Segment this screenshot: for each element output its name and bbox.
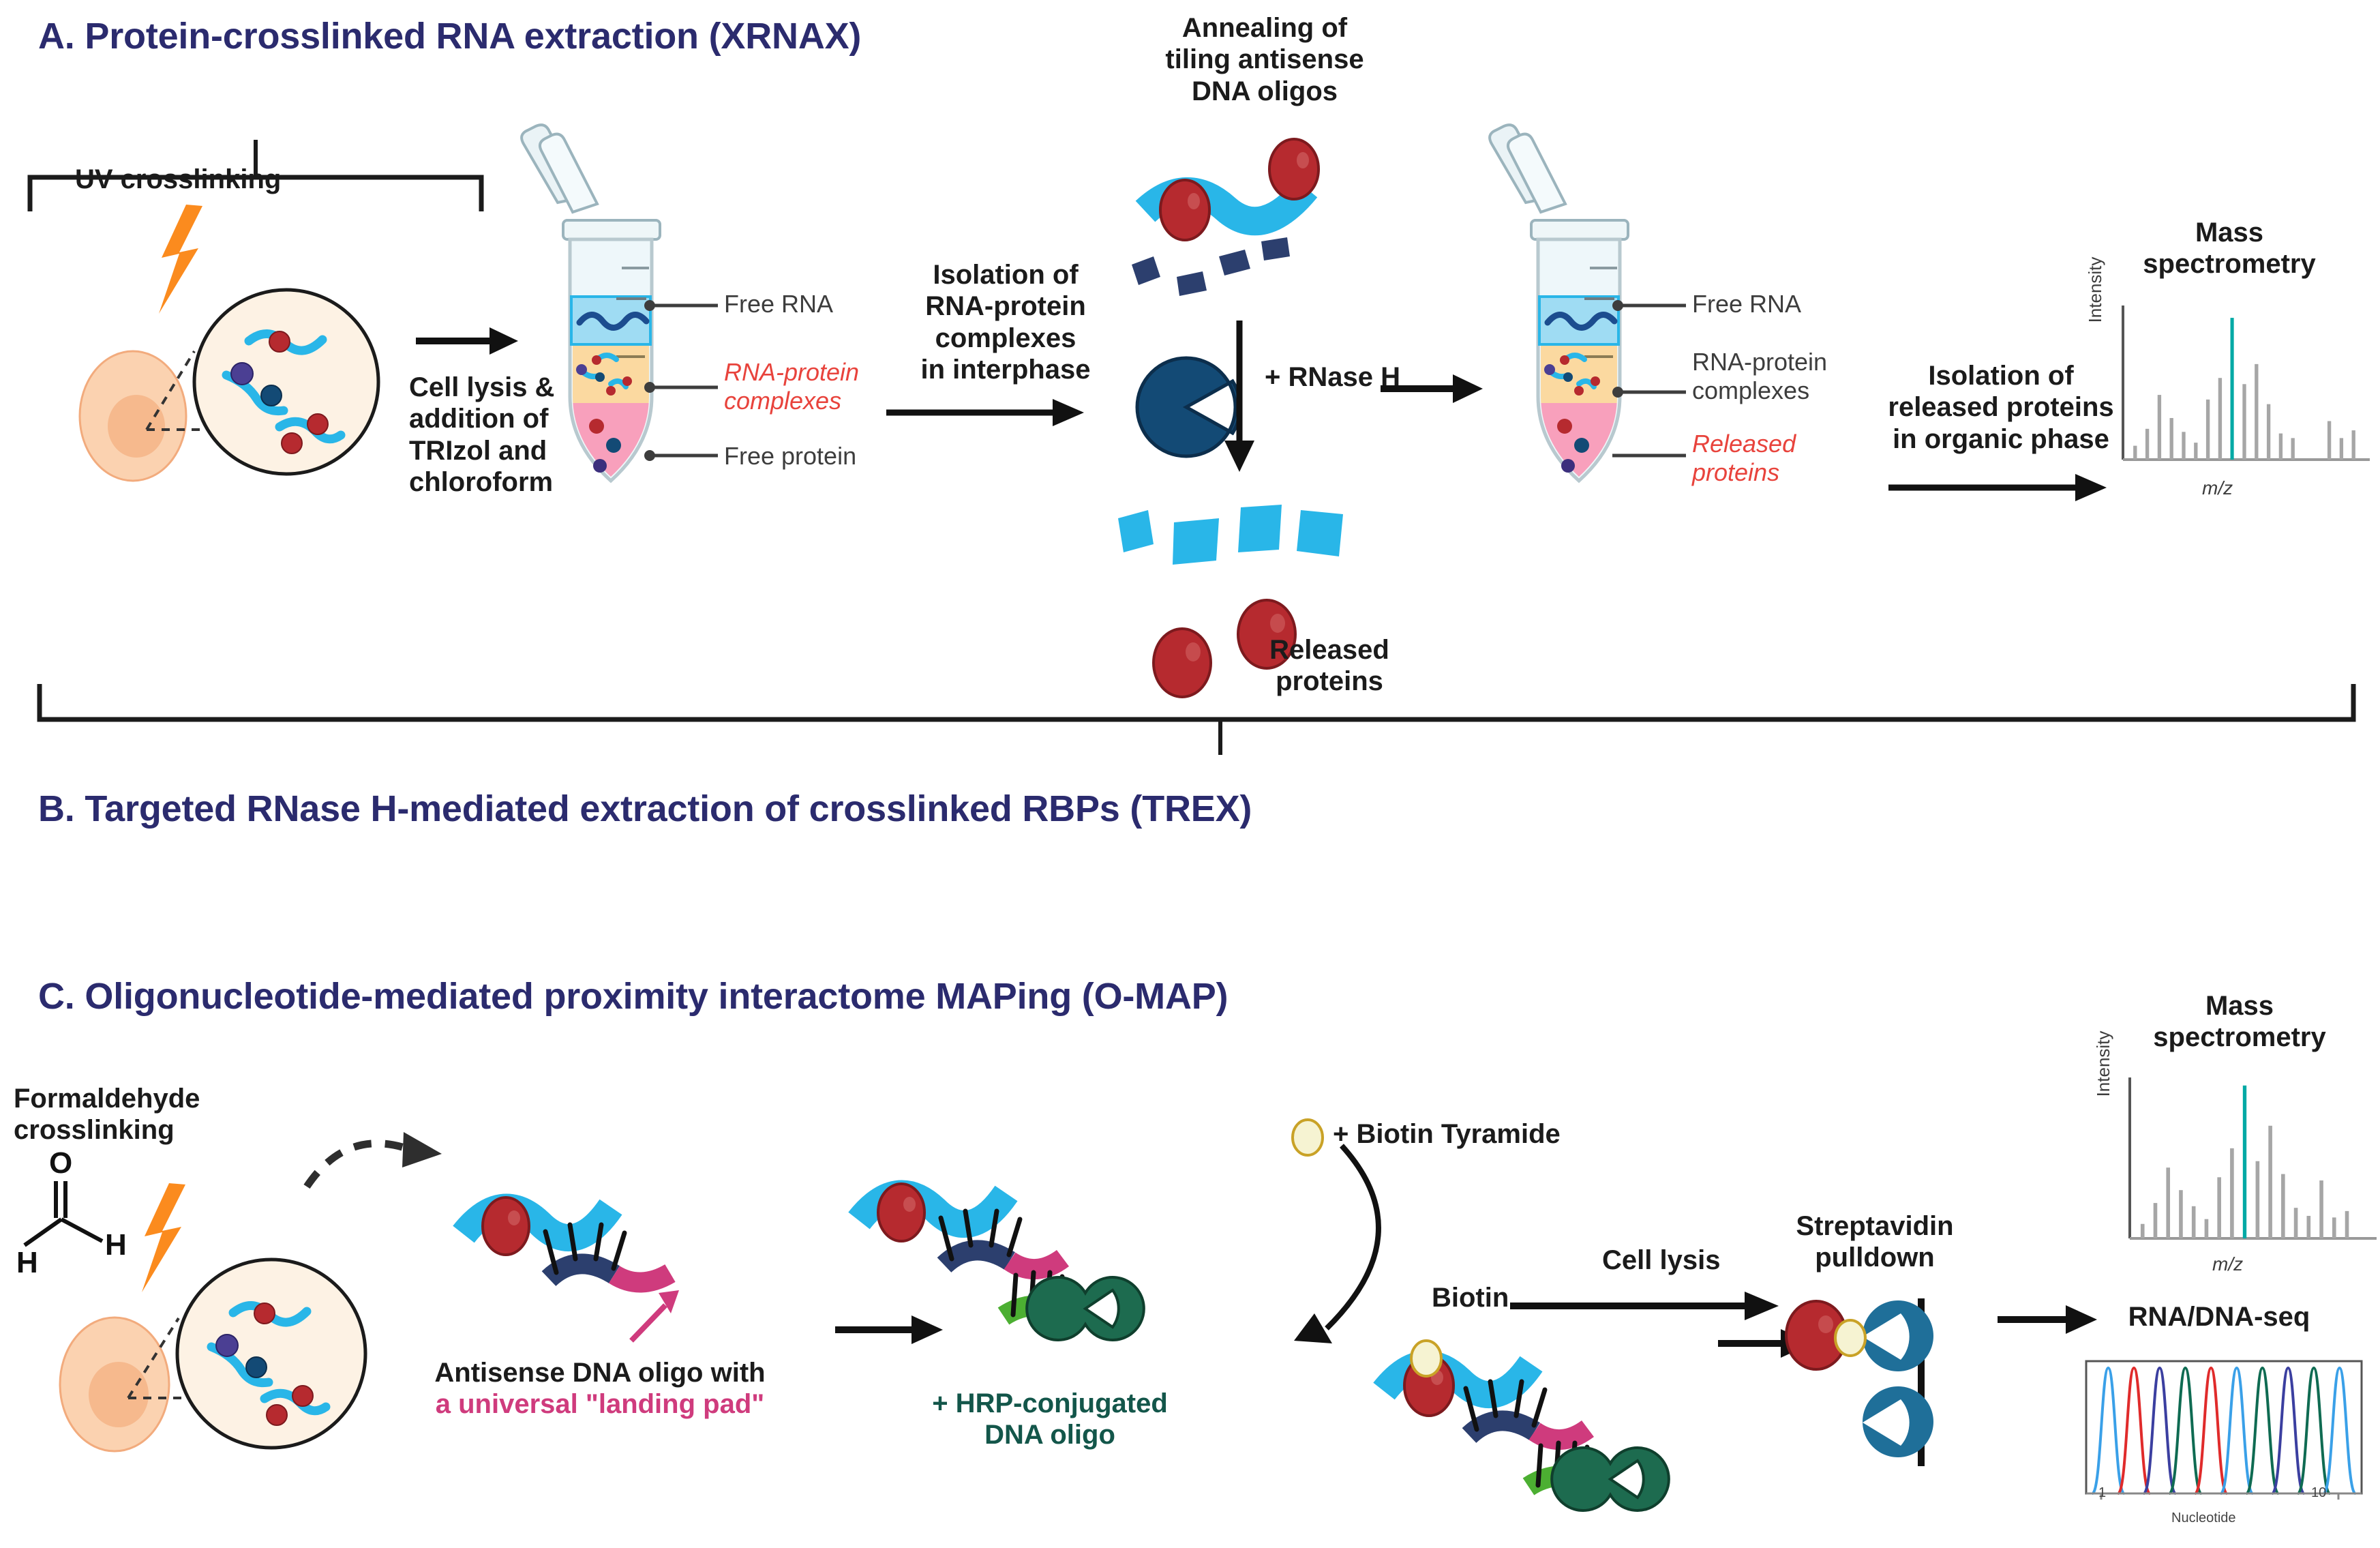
streptavidin-line-2: pulldown — [1762, 1242, 1987, 1273]
tube1-free-protein-label: Free protein — [724, 442, 856, 471]
antisense-line-1: Antisense DNA oligo with — [423, 1357, 777, 1388]
tube2-released-line2: proteins — [1692, 458, 1796, 487]
isolation-interphase-line-1: Isolation of — [886, 259, 1125, 291]
streptavidin-line-1: Streptavidin — [1762, 1210, 1987, 1242]
isolation-organic-label: Isolation of released proteins in organi… — [1865, 360, 2137, 455]
hrp-line-1: + HRP-conjugated — [886, 1388, 1214, 1419]
tube2-rna-protein-line2: complexes — [1692, 376, 1827, 405]
panel-a-bracket — [0, 82, 518, 218]
antisense-line-2: a universal "landing pad" — [423, 1388, 777, 1420]
panel-ab-bracket — [0, 672, 2380, 760]
isolation-organic-line-1: Isolation of — [1865, 360, 2137, 391]
ms-title-c: Mass spectrometry — [2130, 990, 2349, 1054]
tube1-rna-protein-label: RNA-protein complexes — [724, 358, 859, 415]
isolation-organic-line-3: in organic phase — [1865, 423, 2137, 455]
ms-a-ylabel: Intensity — [2085, 235, 2106, 344]
uv-crosslinking-label: UV crosslinking — [75, 164, 361, 195]
arrow-to-readouts — [1998, 1299, 2100, 1340]
tube2-free-rna-label: Free RNA — [1692, 290, 1801, 318]
annealing-line-1: Annealing of — [1128, 12, 1401, 44]
formaldehyde-line-1: Formaldehyde — [14, 1083, 273, 1114]
isolation-interphase-line-4: in interphase — [886, 354, 1125, 385]
ms-c-xlabel: m/z — [2212, 1253, 2243, 1275]
ms-chart-c — [2107, 1072, 2379, 1256]
isolation-interphase-line-2: RNA-protein — [886, 291, 1125, 322]
sanger-xtick-10: 10 — [2311, 1485, 2326, 1501]
tube2-released-line1: Released — [1692, 430, 1796, 458]
svg-text:H: H — [105, 1228, 127, 1262]
ms-title-a-line-2: spectrometry — [2120, 248, 2338, 280]
tube1-rna-protein-line2: complexes — [724, 387, 859, 415]
arrow-isolation-organic — [1888, 467, 2113, 508]
tube1-rna-protein-line1: RNA-protein — [724, 358, 859, 387]
sanger-xlabel: Nucleotide — [2171, 1510, 2236, 1526]
ms-title-a: Mass spectrometry — [2120, 217, 2338, 280]
antisense-oligo-label: Antisense DNA oligo with a universal "la… — [423, 1357, 777, 1420]
annealing-line-2: tiling antisense — [1128, 44, 1401, 75]
panel-c-title: C. Oligonucleotide-mediated proximity in… — [38, 975, 1228, 1017]
tube2-released-proteins-label: Released proteins — [1692, 430, 1796, 487]
sanger-xtick-1: 1 — [2098, 1485, 2106, 1501]
streptavidin-pulldown-label: Streptavidin pulldown — [1762, 1210, 1987, 1274]
rna-protein-tiling-complex — [1132, 136, 1418, 341]
arrow-rnase-h-down — [1220, 321, 1268, 477]
streptavidin-beads-icon — [1786, 1296, 1977, 1493]
hrp-line-2: DNA oligo — [886, 1419, 1214, 1450]
ms-chart-a — [2100, 300, 2373, 477]
isolation-organic-line-2: released proteins — [1865, 391, 2137, 423]
ms-title-c-line-2: spectrometry — [2130, 1022, 2349, 1053]
biotin-label: Biotin — [1432, 1282, 1509, 1313]
rna-dna-seq-title: RNA/DNA-seq — [2107, 1301, 2332, 1333]
cell-lysis-label-c: Cell lysis — [1602, 1245, 1720, 1276]
hrp-oligo-label: + HRP-conjugated DNA oligo — [886, 1388, 1214, 1451]
ms-title-a-line-1: Mass — [2120, 217, 2338, 248]
cell-diagram-a — [75, 273, 457, 498]
panel-a-title: A. Protein-crosslinked RNA extraction (X… — [38, 15, 861, 57]
cell-diagram-c — [55, 1258, 436, 1490]
formaldehyde-crosslinking-label: Formaldehyde crosslinking — [14, 1083, 273, 1146]
arrow-isolation-interphase — [886, 392, 1091, 433]
ms-c-ylabel: Intensity — [2093, 1009, 2114, 1118]
isolation-interphase-label: Isolation of RNA-protein complexes in in… — [886, 259, 1125, 386]
annealing-line-3: DNA oligos — [1128, 76, 1401, 107]
tube2-rna-protein-line1: RNA-protein — [1692, 348, 1827, 376]
ms-a-xlabel: m/z — [2202, 477, 2233, 499]
tube2-rna-protein-label: RNA-protein complexes — [1692, 348, 1827, 405]
svg-text:O: O — [49, 1146, 72, 1180]
panel-b-title: B. Targeted RNase H-mediated extraction … — [38, 788, 1252, 830]
isolation-interphase-line-3: complexes — [886, 323, 1125, 354]
cleaved-rna-fragments — [1118, 505, 1445, 586]
svg-text:H: H — [16, 1246, 38, 1279]
formaldehyde-line-2: crosslinking — [14, 1114, 273, 1146]
released-proteins-line-1: Released — [1234, 634, 1425, 666]
hrp-conjugated-complex — [845, 1146, 1282, 1378]
tube1-free-rna-label: Free RNA — [724, 290, 833, 318]
ms-title-c-line-1: Mass — [2130, 990, 2349, 1022]
annealing-label: Annealing of tiling antisense DNA oligos — [1128, 12, 1401, 107]
antisense-oligo-complex — [450, 1159, 832, 1364]
dashed-curved-arrow-c — [300, 1118, 464, 1214]
